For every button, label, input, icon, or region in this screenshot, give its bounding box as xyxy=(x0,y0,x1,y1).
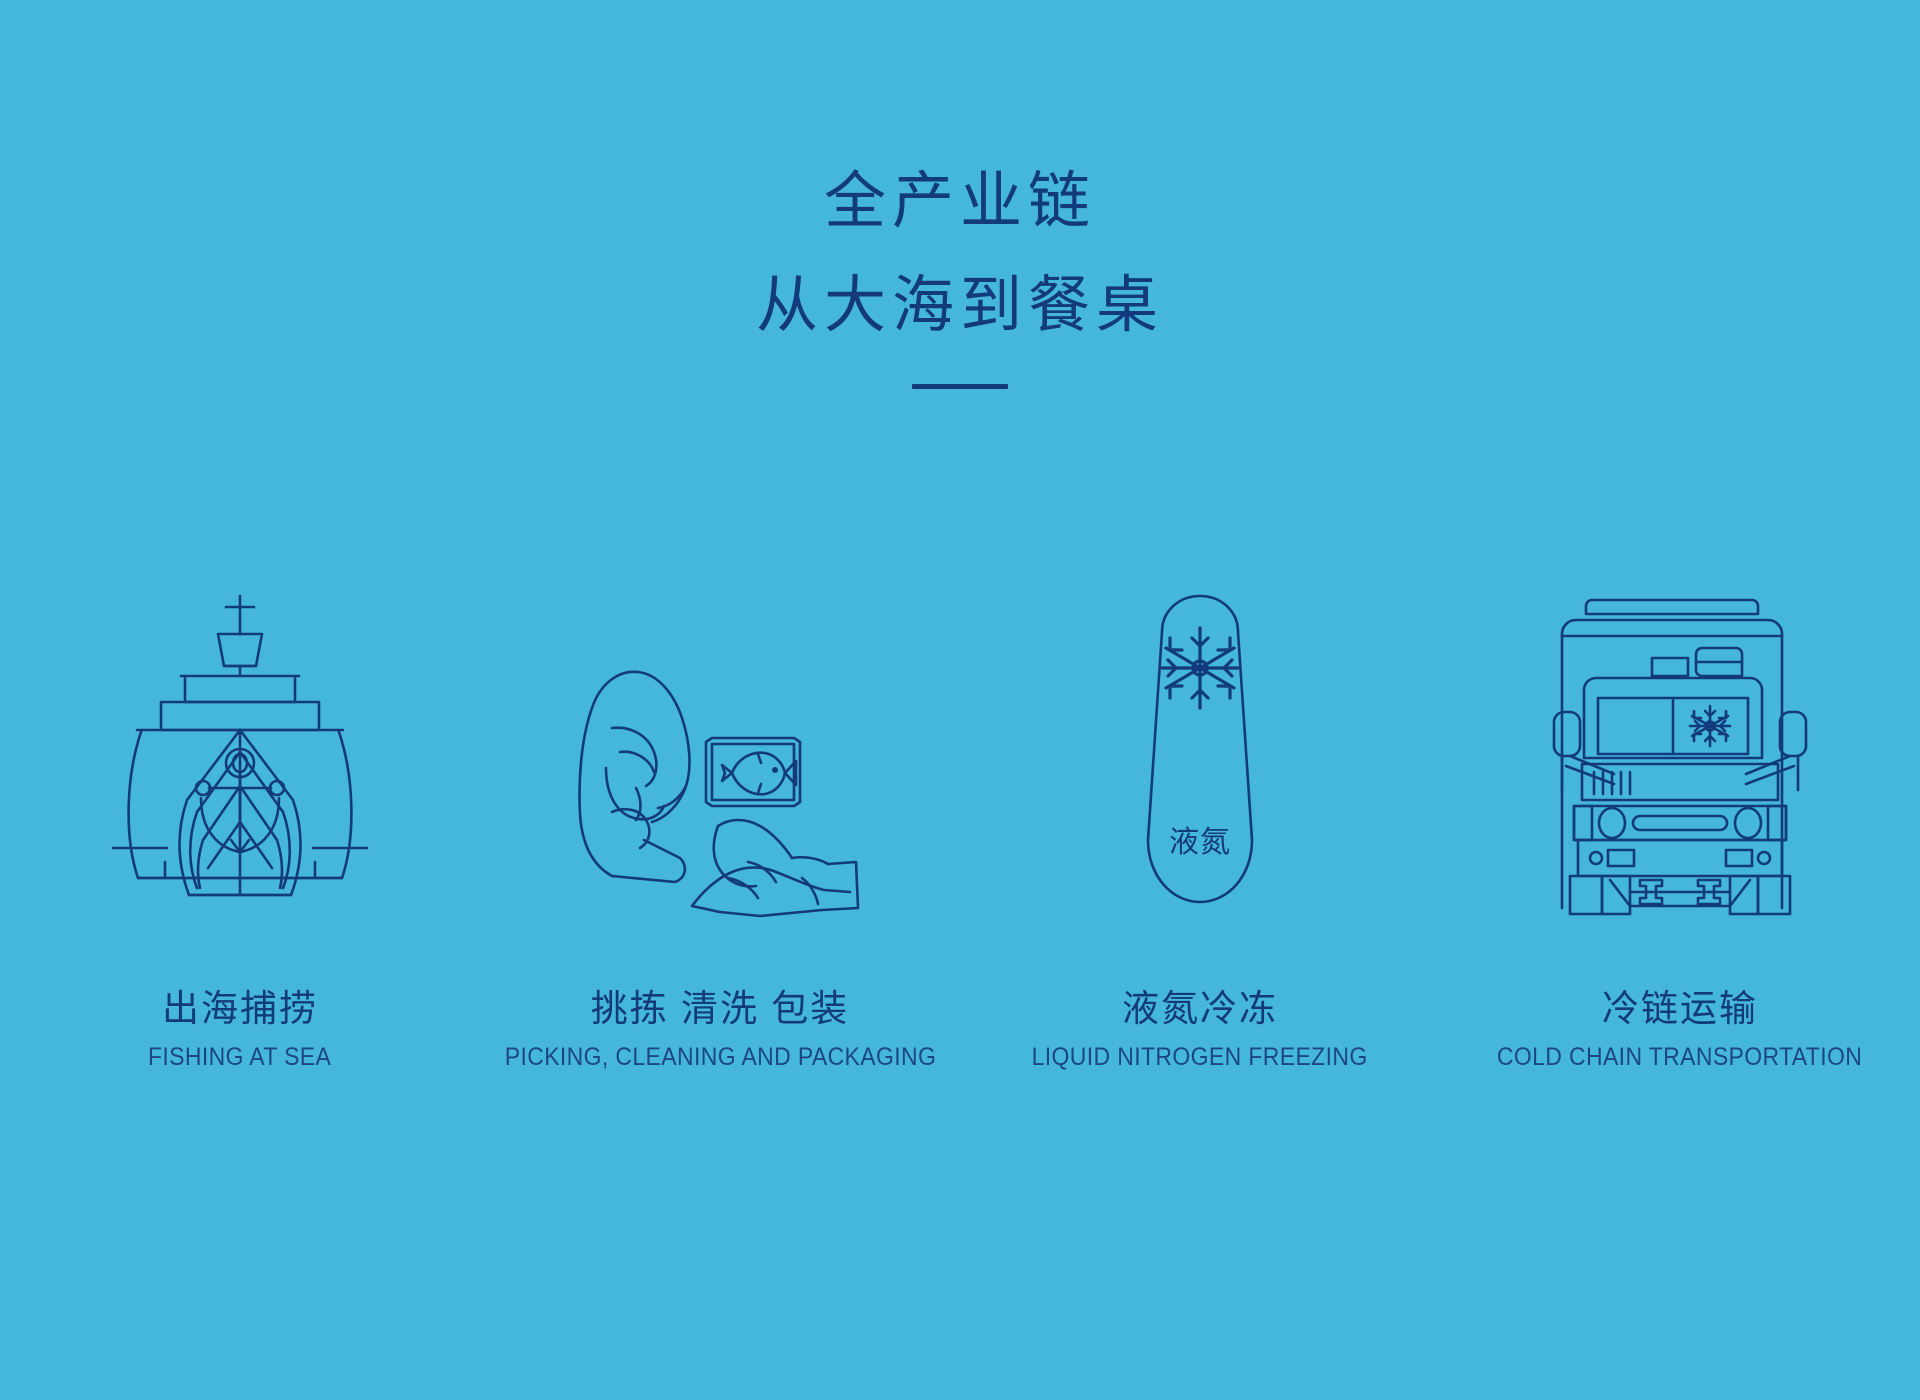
snowflake-icon xyxy=(1162,628,1238,708)
hands-with-packaged-fish-icon xyxy=(570,590,870,920)
step-cold-chain-transportation[interactable]: 冷链运输 COLD CHAIN TRANSPORTATION xyxy=(1440,520,1920,1072)
supply-chain-steps: 出海捕捞 FISHING AT SEA xyxy=(0,520,1920,1072)
step-labels: 液氮冷冻 LIQUID NITROGEN FREEZING xyxy=(1017,986,1382,1072)
snowflake-icon xyxy=(1690,706,1730,746)
heading-divider xyxy=(912,384,1008,389)
page-heading: 全产业链 从大海到餐桌 xyxy=(0,150,1920,389)
page-title-line-2: 从大海到餐桌 xyxy=(0,254,1920,358)
heading-divider-wrap xyxy=(0,384,1920,389)
step-picking-cleaning-packaging[interactable]: 挑拣 清洗 包装 PICKING, CLEANING AND PACKAGING xyxy=(480,520,960,1072)
fishing-boat-icon xyxy=(105,590,375,920)
step-labels: 挑拣 清洗 包装 PICKING, CLEANING AND PACKAGING xyxy=(486,986,955,1072)
step-label-cn: 挑拣 清洗 包装 xyxy=(486,986,955,1032)
step-label-en: PICKING, CLEANING AND PACKAGING xyxy=(504,1042,935,1072)
step-icon-box: 液氮 xyxy=(1110,520,1290,920)
step-icon-box xyxy=(105,520,375,920)
step-labels: 冷链运输 COLD CHAIN TRANSPORTATION xyxy=(1481,986,1878,1072)
step-label-cn: 液氮冷冻 xyxy=(1017,986,1382,1032)
step-label-en: LIQUID NITROGEN FREEZING xyxy=(1032,1042,1368,1072)
page-title-line-1: 全产业链 xyxy=(0,150,1920,254)
step-label-en: COLD CHAIN TRANSPORTATION xyxy=(1497,1042,1862,1072)
full-supply-chain-infographic: 全产业链 从大海到餐桌 xyxy=(0,0,1920,1400)
step-icon-box xyxy=(1540,520,1820,920)
tank-caption: 液氮 xyxy=(1169,826,1231,859)
step-label-cn: 冷链运输 xyxy=(1481,986,1878,1032)
step-icon-box xyxy=(570,520,870,920)
step-label-cn: 出海捕捞 xyxy=(140,986,339,1032)
liquid-nitrogen-tank-icon: 液氮 xyxy=(1110,590,1290,920)
grille-vents xyxy=(1594,772,1630,794)
refrigerated-truck-icon xyxy=(1540,590,1820,920)
step-fishing-at-sea[interactable]: 出海捕捞 FISHING AT SEA xyxy=(0,520,480,1072)
step-label-en: FISHING AT SEA xyxy=(148,1042,331,1072)
step-labels: 出海捕捞 FISHING AT SEA xyxy=(140,986,339,1072)
step-liquid-nitrogen-freezing[interactable]: 液氮 液氮冷冻 LIQUID NITROGEN FREEZING xyxy=(960,520,1440,1072)
